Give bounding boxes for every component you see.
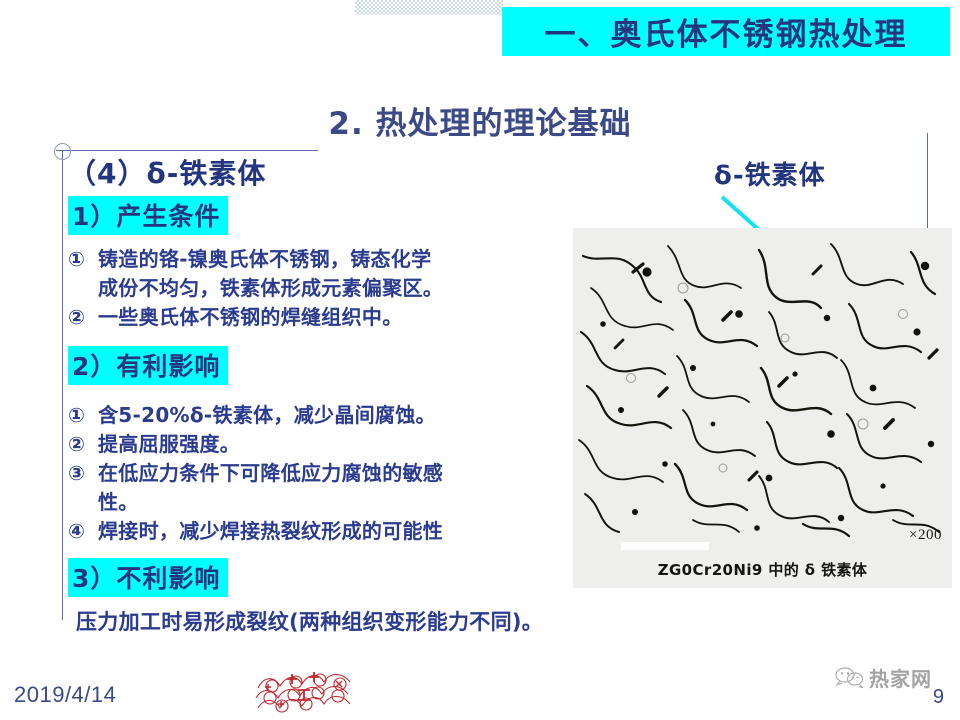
content-column: （4）δ-铁素体 1）产生条件 ① 铸造的铬-镍奥氏体不锈钢，铸态化学 成份不均… [68, 152, 573, 637]
list-line: 在低应力条件下可降低应力腐蚀的敏感 [98, 459, 573, 488]
page-title: 2. 热处理的理论基础 [0, 98, 960, 143]
subsection-1: 1）产生条件 ① 铸造的铬-镍奥氏体不锈钢，铸态化学 成份不均匀，铁素体形成元素… [68, 196, 573, 332]
list-item: ② 一些奥氏体不锈钢的焊缝组织中。 [68, 303, 573, 332]
list-line: 焊接时，减少焊接热裂纹形成的可能性 [98, 517, 573, 546]
list-line: 一些奥氏体不锈钢的焊缝组织中。 [98, 303, 573, 332]
site-watermark: 热家网 [834, 662, 932, 692]
wechat-icon [834, 666, 864, 688]
list-line: 铸造的铬-镍奥氏体不锈钢，铸态化学 [98, 245, 573, 274]
footer-date: 2019/4/14 [14, 682, 116, 708]
list-line: 提高屈服强度。 [98, 430, 573, 459]
subsection-3-label: 3）不利影响 [68, 558, 228, 597]
list-body: 提高屈服强度。 [98, 430, 573, 459]
watermark-text: 热家网 [869, 663, 932, 692]
subsection-2-label: 2）有利影响 [68, 346, 228, 385]
list-body: 铸造的铬-镍奥氏体不锈钢，铸态化学 成份不均匀，铁素体形成元素偏聚区。 [98, 245, 573, 303]
list-line: 成份不均匀，铁素体形成元素偏聚区。 [98, 274, 573, 303]
list-body: 在低应力条件下可降低应力腐蚀的敏感 性。 [98, 459, 573, 517]
page-number: 9 [933, 686, 944, 709]
list-marker: ① [68, 401, 98, 430]
list-body: 一些奥氏体不锈钢的焊缝组织中。 [98, 303, 573, 332]
micrograph-caption: ZG0Cr20Ni9 中的 δ 铁素体 [573, 550, 952, 588]
list-marker: ④ [68, 517, 98, 546]
magnification-label: ×200 [909, 527, 942, 544]
micrograph-caption-text: ZG0Cr20Ni9 中的 δ 铁素体 [658, 559, 868, 580]
list-marker: ② [68, 303, 98, 332]
list-line: 含5-20%δ-铁素体，减少晶间腐蚀。 [98, 401, 573, 430]
list-body: 含5-20%δ-铁素体，减少晶间腐蚀。 [98, 401, 573, 430]
placeholder-top-guide [56, 150, 318, 151]
slide-canvas: 一、奥氏体不锈钢热处理 2. 热处理的理论基础 （4）δ-铁素体 1）产生条件 … [0, 0, 960, 720]
micrograph-figure: ×200 ZG0Cr20Ni9 中的 δ 铁素体 [573, 228, 952, 588]
subsection-3: 3）不利影响 压力加工时易形成裂纹(两种组织变形能力不同)。 [68, 558, 573, 637]
placeholder-right-guide [927, 133, 928, 234]
list-item: ③ 在低应力条件下可降低应力腐蚀的敏感 性。 [68, 459, 573, 517]
subsection-1-list: ① 铸造的铬-镍奥氏体不锈钢，铸态化学 成份不均匀，铁素体形成元素偏聚区。 ② … [68, 245, 573, 332]
decorative-dot-band [355, 0, 503, 15]
slide-title-banner: 一、奥氏体不锈钢热处理 [502, 7, 950, 56]
list-line: 性。 [98, 488, 573, 517]
list-item: ② 提高屈服强度。 [68, 430, 573, 459]
list-marker: ② [68, 430, 98, 459]
subsection-3-text: 压力加工时易形成裂纹(两种组织变形能力不同)。 [76, 607, 573, 637]
micrograph-image [573, 228, 952, 550]
section-title: （4）δ-铁素体 [68, 152, 573, 192]
subsection-1-label: 1）产生条件 [68, 196, 228, 235]
subsection-2-list: ① 含5-20%δ-铁素体，减少晶间腐蚀。 ② 提高屈服强度。 ③ 在低应力条件… [68, 401, 573, 546]
slide-title-text: 一、奥氏体不锈钢热处理 [545, 9, 908, 54]
list-item: ① 铸造的铬-镍奥氏体不锈钢，铸态化学 成份不均匀，铁素体形成元素偏聚区。 [68, 245, 573, 303]
list-item: ① 含5-20%δ-铁素体，减少晶间腐蚀。 [68, 401, 573, 430]
placeholder-left-guide [62, 150, 63, 620]
list-marker: ① [68, 245, 98, 303]
list-body: 焊接时，减少焊接热裂纹形成的可能性 [98, 517, 573, 546]
list-marker: ③ [68, 459, 98, 517]
list-item: ④ 焊接时，减少焊接热裂纹形成的可能性 [68, 517, 573, 546]
institution-seal-icon [252, 664, 356, 718]
subsection-2: 2）有利影响 ① 含5-20%δ-铁素体，减少晶间腐蚀。 ② 提高屈服强度。 ③ [68, 346, 573, 546]
